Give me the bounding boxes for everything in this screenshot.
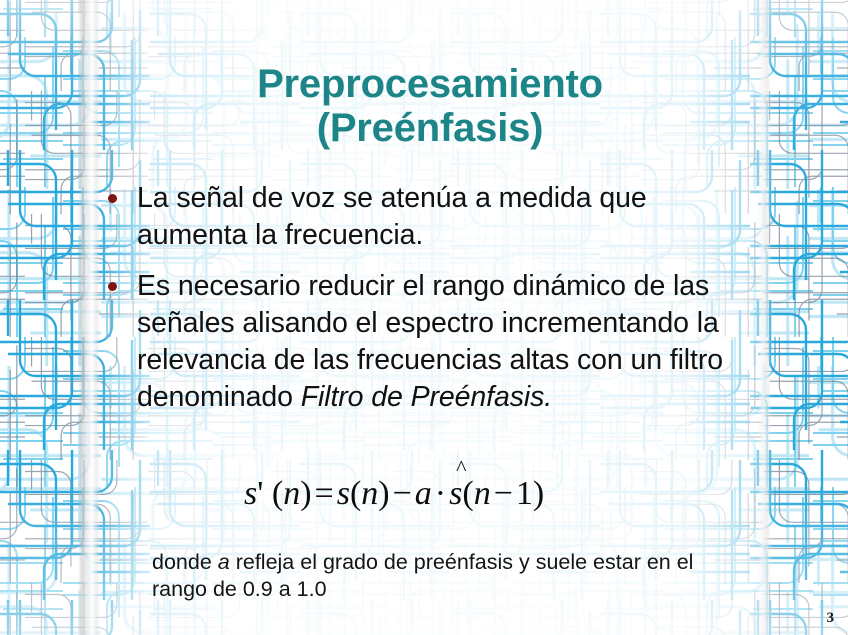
bullet-text-2-italic: Filtro de Preénfasis. xyxy=(301,381,552,413)
formula-rhs2-hat-group: ^s xyxy=(449,474,462,514)
formula-minus: − xyxy=(390,475,415,512)
formula-hat-accent: ^ xyxy=(456,457,466,479)
bullet-dot-icon xyxy=(108,194,117,203)
bullet-text-1: La señal de voz se atenúa a medida que a… xyxy=(137,180,748,254)
bullet-text-2: Es necesario reducir el rango dinámico d… xyxy=(137,268,748,416)
note-prefix: donde xyxy=(152,550,218,574)
page-number: 3 xyxy=(827,610,835,627)
formula-lhs-arg-close: ) xyxy=(300,475,311,512)
formula-minus-2: − xyxy=(491,475,516,512)
title-line-1: Preprocesamiento xyxy=(150,62,710,106)
list-item: La señal de voz se atenúa a medida que a… xyxy=(108,180,748,254)
formula-rhs2-close: ) xyxy=(533,475,544,512)
formula-lhs-var: s xyxy=(244,475,257,512)
formula-rhs2-num: 1 xyxy=(516,475,533,512)
preemphasis-formula: s' (n)=s(n)−a·^s(n−1) xyxy=(244,474,544,514)
slide-content: Preprocesamiento (Preénfasis) La señal d… xyxy=(0,0,848,635)
formula-coefficient: a xyxy=(415,475,432,512)
slide-canvas: Preprocesamiento (Preénfasis) La señal d… xyxy=(0,0,848,635)
formula-rhs1-arg: n xyxy=(361,475,378,512)
formula-equals: = xyxy=(312,475,337,512)
list-item: Es necesario reducir el rango dinámico d… xyxy=(108,268,748,416)
formula-rhs2-open: ( xyxy=(462,475,473,512)
formula-note: donde a refleja el grado de preénfasis y… xyxy=(152,549,712,603)
note-italic-var: a xyxy=(218,550,230,574)
bullet-list: La señal de voz se atenúa a medida que a… xyxy=(108,180,748,430)
title-line-2: (Preénfasis) xyxy=(150,106,710,150)
formula-rhs1-open: ( xyxy=(350,475,361,512)
page-title: Preprocesamiento (Preénfasis) xyxy=(150,62,710,150)
formula-rhs1-var: s xyxy=(337,475,350,512)
formula-rhs1-close: ) xyxy=(378,475,389,512)
formula-lhs-arg-open: ( xyxy=(263,475,283,512)
bullet-dot-icon xyxy=(108,282,117,291)
formula-multiply-dot: · xyxy=(432,475,449,512)
formula-rhs2-arg: n xyxy=(474,475,491,512)
note-suffix: refleja el grado de preénfasis y suele e… xyxy=(152,550,693,601)
formula-lhs-arg-var: n xyxy=(283,475,300,512)
formula-rhs2-var: s xyxy=(449,475,462,512)
